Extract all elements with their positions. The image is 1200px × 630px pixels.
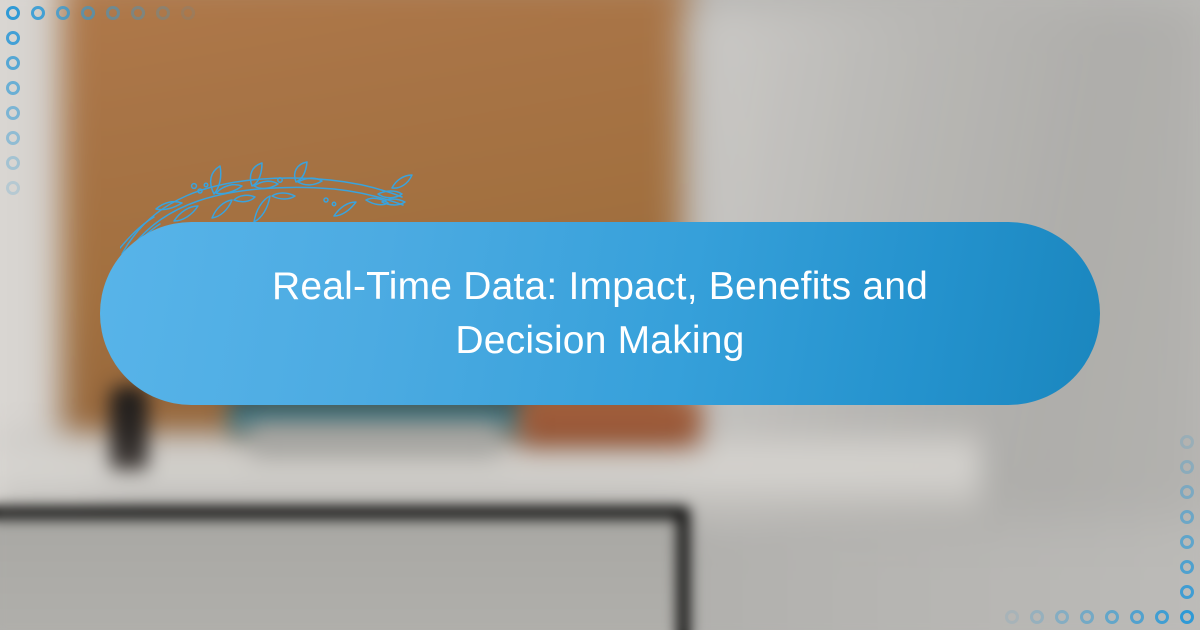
title-pill: Real-Time Data: Impact, Benefits and Dec… [100,222,1100,405]
background-desk-object [110,386,148,470]
background-warm-strip [520,398,700,446]
page-title: Real-Time Data: Impact, Benefits and Dec… [272,260,928,368]
background-dark-frame [0,506,690,630]
social-share-banner: Real-Time Data: Impact, Benefits and Dec… [0,0,1200,630]
background-monitor-stand [250,424,500,460]
